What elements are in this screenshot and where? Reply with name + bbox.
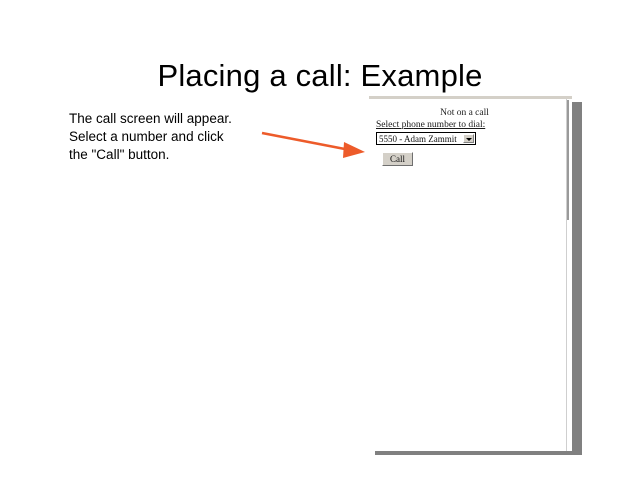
arrow-right-icon <box>255 122 375 164</box>
body-line-3: the "Call" button. <box>69 146 269 164</box>
body-line-1: The call screen will appear. <box>69 110 269 128</box>
call-button[interactable]: Call <box>382 152 413 166</box>
panel-drop-shadow-right <box>572 102 582 455</box>
chevron-down-icon[interactable] <box>463 134 474 143</box>
phone-number-select-value: 5550 - Adam Zammit <box>379 134 457 144</box>
dial-number-label: Select phone number to dial: <box>376 120 564 130</box>
call-status-text: Not on a call <box>375 108 564 118</box>
phone-number-select[interactable]: 5550 - Adam Zammit <box>376 132 476 145</box>
body-line-2: Select a number and click <box>69 128 269 146</box>
page-title: Placing a call: Example <box>0 59 640 93</box>
call-screen-content: Not on a call Select phone number to dia… <box>369 99 572 451</box>
call-screen-screenshot: Not on a call Select phone number to dia… <box>369 96 572 451</box>
panel-scrollbar-thumb[interactable] <box>567 100 569 220</box>
slide-body-text: The call screen will appear. Select a nu… <box>69 110 269 164</box>
